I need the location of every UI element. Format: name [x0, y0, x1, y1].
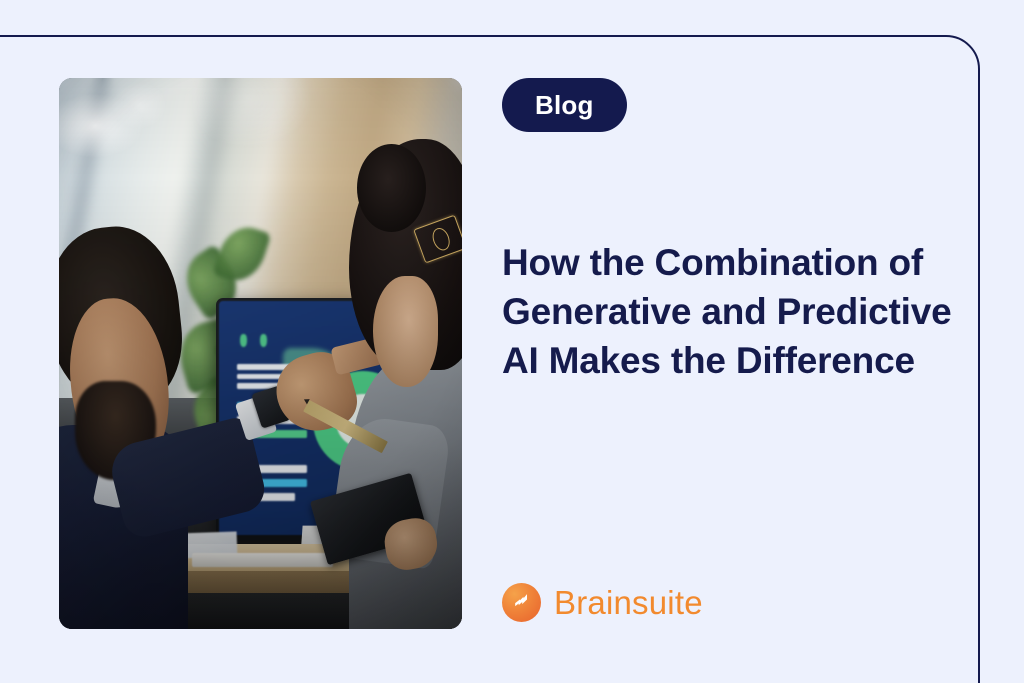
woman-hair-bun: [357, 144, 426, 232]
brand-name: Brainsuite: [554, 586, 703, 619]
keyboard: [192, 553, 333, 567]
brand-logo[interactable]: Brainsuite: [502, 583, 703, 622]
article-content: Blog How the Combination of Generative a…: [502, 78, 972, 629]
stacked-layers-icon: [502, 583, 541, 622]
page-title: How the Combination of Generative and Pr…: [502, 239, 970, 385]
photo-scene: Circular Economy Infographic: [59, 78, 462, 629]
woman-face: [373, 276, 437, 386]
article-hero-image: Circular Economy Infographic: [59, 78, 462, 629]
category-badge-blog[interactable]: Blog: [502, 78, 627, 132]
